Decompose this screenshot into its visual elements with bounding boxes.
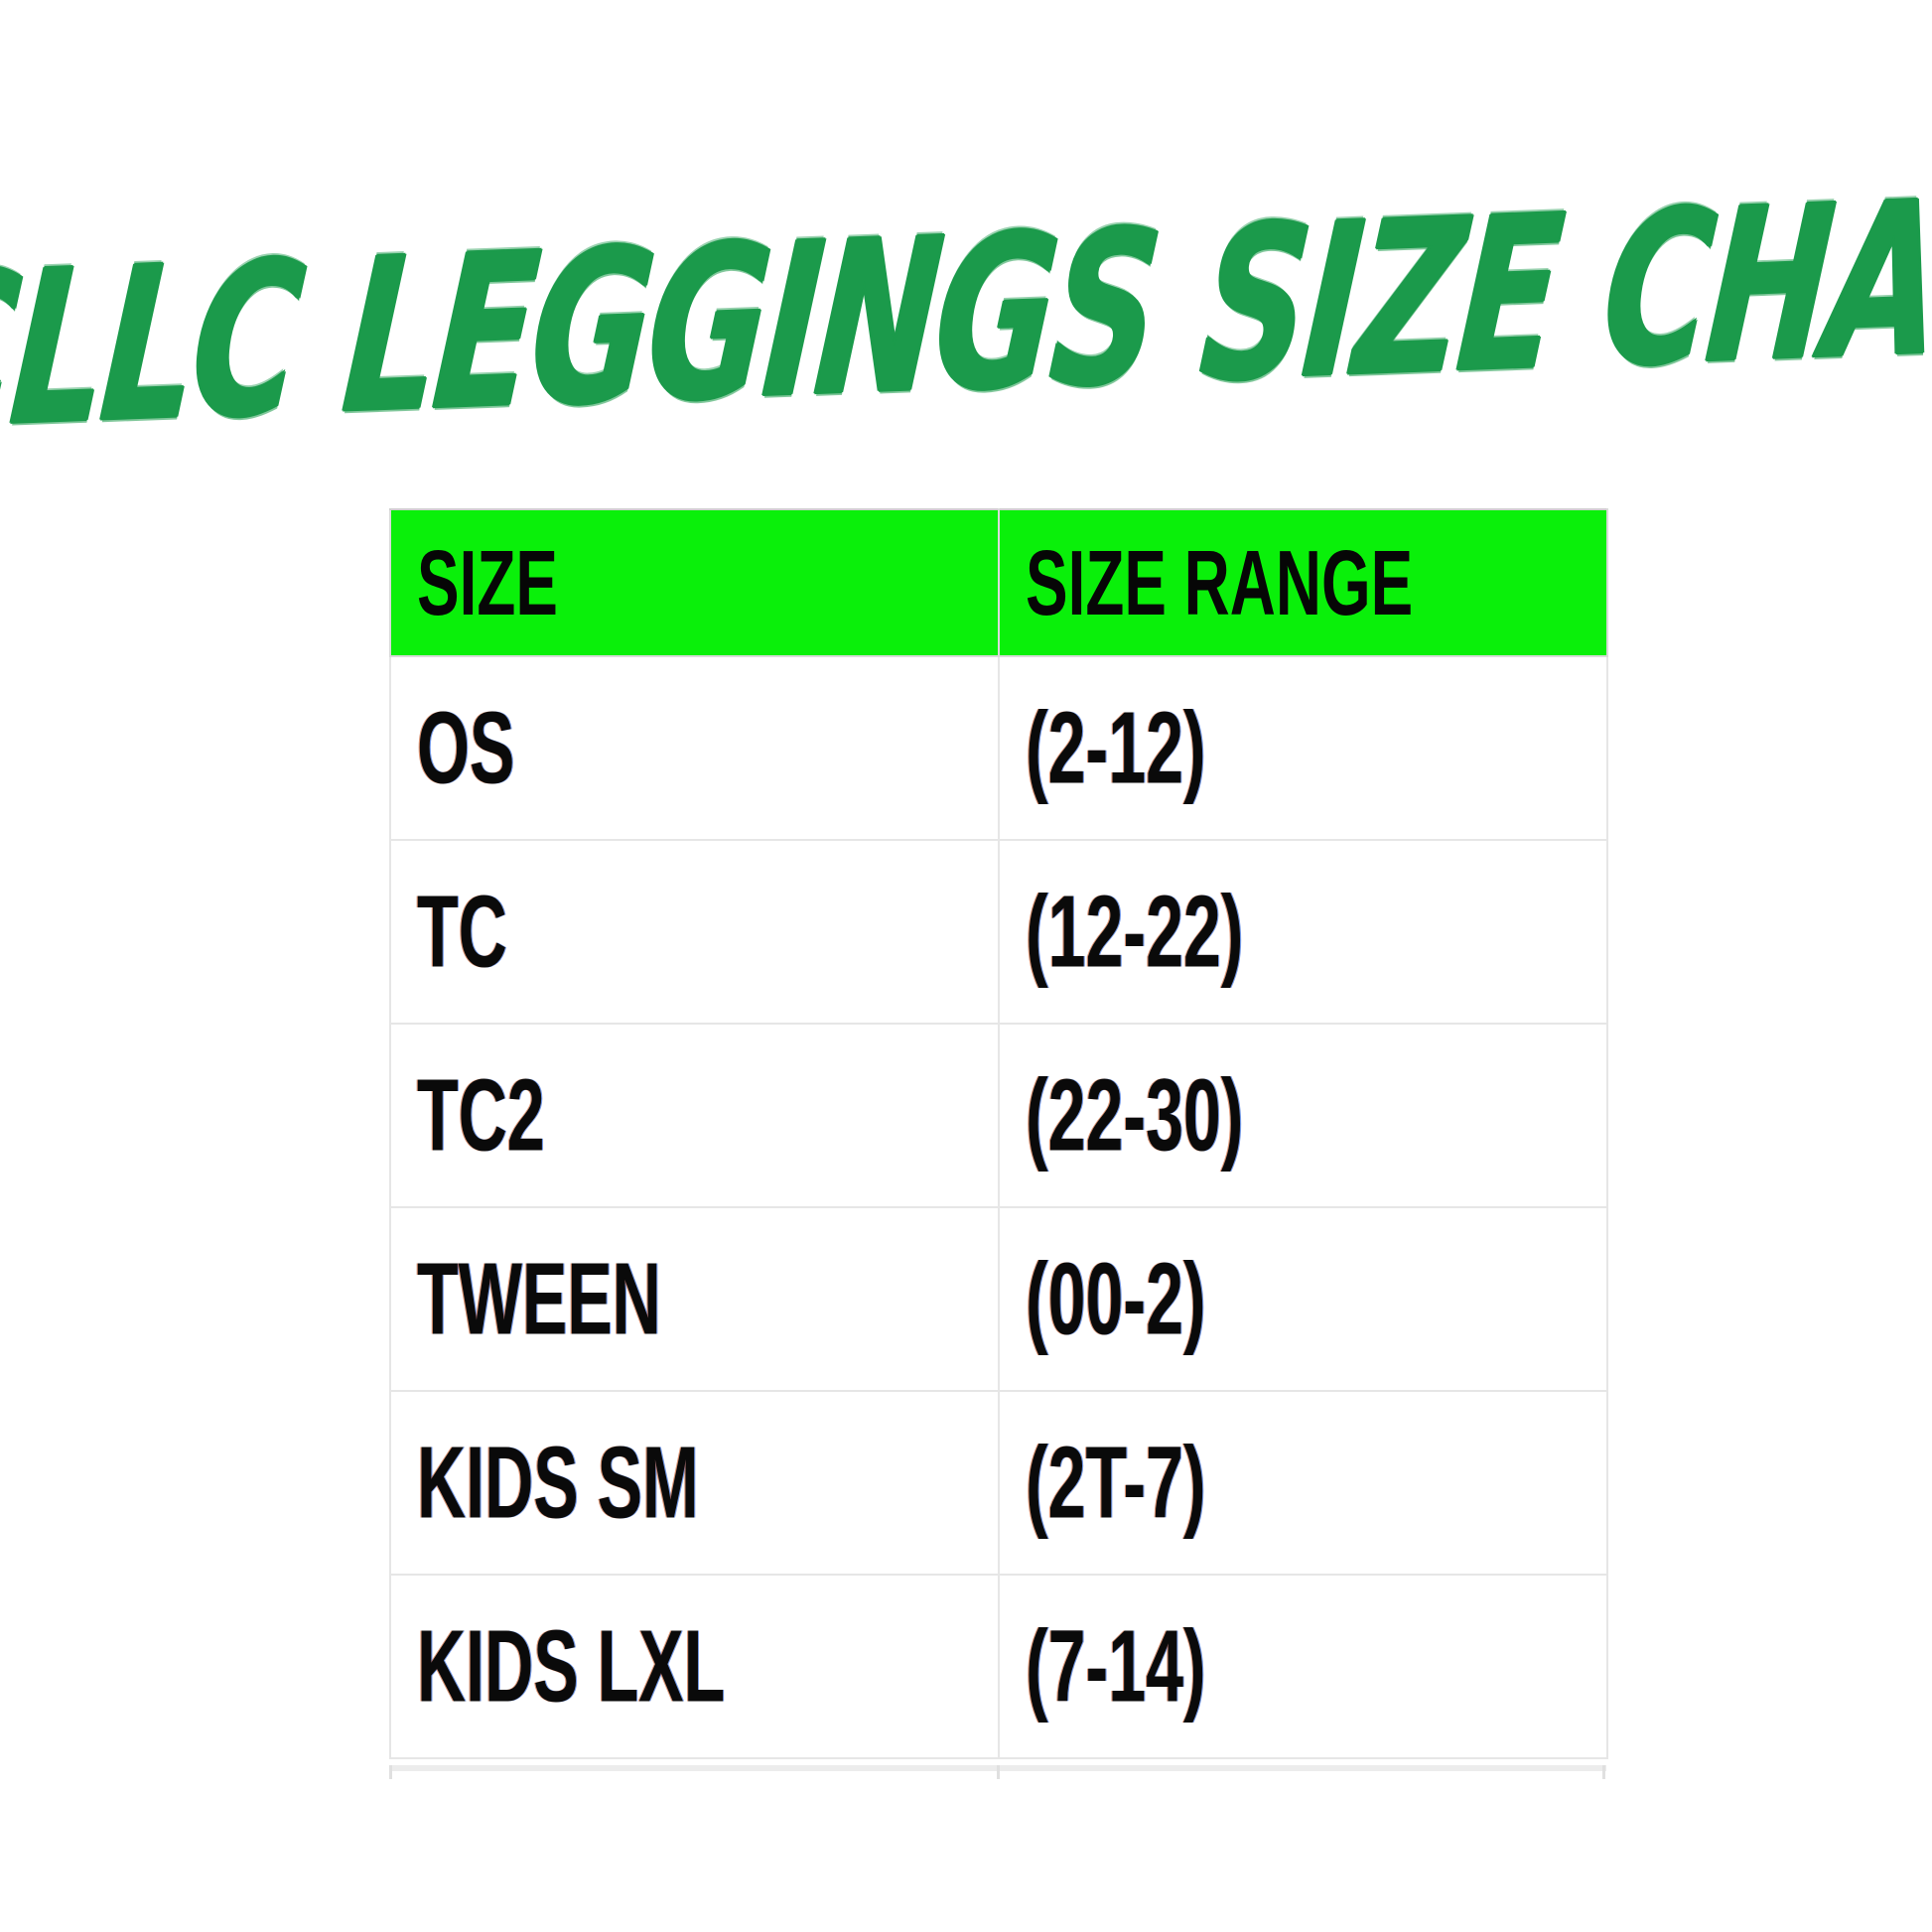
cell-size-range: (22-30) [999,1024,1607,1207]
size-range-value: (7-14) [1026,1615,1206,1718]
page-title-container: GCLLC LEGGINGS SIZE CHART [0,216,1932,415]
size-range-value: (2T-7) [1026,1432,1206,1534]
table-bottom-tick-middle [997,1765,1000,1779]
size-chart-canvas: GCLLC LEGGINGS SIZE CHART SIZE SIZE RANG… [0,0,1932,1932]
cell-size-range: (7-14) [999,1575,1607,1758]
size-range-value: (12-22) [1026,881,1243,983]
cell-size-range: (2T-7) [999,1391,1607,1575]
column-header-size-range-label: SIZE RANGE [1026,537,1413,628]
table-bottom-tick-right [1602,1765,1605,1779]
table-row: KIDS SM (2T-7) [390,1391,1607,1575]
table-row: TC (12-22) [390,840,1607,1024]
cell-size-range: (12-22) [999,840,1607,1024]
table-header: SIZE SIZE RANGE [390,509,1607,656]
table-body: OS (2-12) TC (12-22) TC2 (22-30) [390,656,1607,1758]
size-chart-table: SIZE SIZE RANGE OS (2-12) TC [389,508,1608,1759]
column-header-size-range: SIZE RANGE [999,509,1607,656]
cell-size: KIDS LXL [390,1575,999,1758]
table-row: KIDS LXL (7-14) [390,1575,1607,1758]
cell-size: OS [390,656,999,840]
size-value: OS [417,697,514,799]
column-header-size: SIZE [390,509,999,656]
cell-size: TC2 [390,1024,999,1207]
column-header-size-label: SIZE [417,537,558,628]
table-bottom-tick-left [389,1765,392,1779]
size-value: TC2 [417,1064,545,1167]
table-row: TWEEN (00-2) [390,1207,1607,1391]
cell-size: TWEEN [390,1207,999,1391]
cell-size-range: (2-12) [999,656,1607,840]
size-range-value: (2-12) [1026,697,1206,799]
cell-size: KIDS SM [390,1391,999,1575]
size-range-value: (00-2) [1026,1248,1206,1350]
table-row: OS (2-12) [390,656,1607,840]
cell-size-range: (00-2) [999,1207,1607,1391]
page-title: GCLLC LEGGINGS SIZE CHART [0,167,1932,465]
cell-size: TC [390,840,999,1024]
size-value: TWEEN [417,1248,661,1350]
table-header-row: SIZE SIZE RANGE [390,509,1607,656]
size-value: TC [417,881,507,983]
size-value: KIDS LXL [417,1615,725,1718]
size-range-value: (22-30) [1026,1064,1243,1167]
size-value: KIDS SM [417,1432,699,1534]
table-row: TC2 (22-30) [390,1024,1607,1207]
